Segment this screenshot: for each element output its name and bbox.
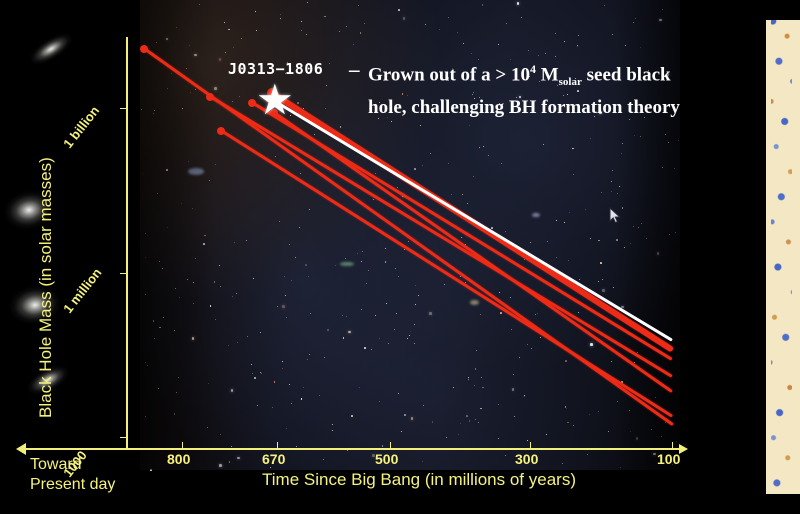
annotation-text: Grown out of a > 104 Msolar seed black h… bbox=[368, 56, 680, 121]
x-tick-label: 300 bbox=[515, 451, 538, 467]
growth-track-start-dot bbox=[206, 93, 214, 101]
annotation-line-1-post: seed black bbox=[582, 64, 671, 85]
x-axis-left-arrow bbox=[16, 443, 26, 455]
y-tick-mark bbox=[120, 437, 127, 438]
x-tick-mark bbox=[277, 442, 278, 448]
cmb-map-strip bbox=[766, 6, 800, 508]
y-tick-label: 1 million bbox=[60, 265, 104, 316]
growth-track-start-dot bbox=[140, 45, 148, 53]
x-axis-title: Time Since Big Bang (in millions of year… bbox=[262, 470, 576, 490]
y-tick-mark bbox=[120, 273, 127, 274]
annotation-line-2: hole, challenging BH formation theory bbox=[368, 95, 680, 121]
x-tick-label: 670 bbox=[262, 451, 285, 467]
annotation-line-1: Grown out of a > 104 Msolar seed black bbox=[368, 56, 680, 95]
cmb-top-cap bbox=[766, 6, 800, 20]
annotation-line-1-m: M bbox=[536, 64, 559, 85]
x-tick-label: 800 bbox=[167, 451, 190, 467]
toward-present-day-label: Toward Present day bbox=[30, 455, 115, 495]
toward-line-2: Present day bbox=[30, 475, 115, 495]
galaxy-edge-on-top bbox=[20, 18, 82, 80]
growth-track-start-dot bbox=[248, 99, 256, 107]
mouse-pointer-icon bbox=[609, 207, 621, 224]
annotation-line-1-pre: Grown out of a > 10 bbox=[368, 64, 530, 85]
slide-canvas: 800670500300100 1 billion1 million1000 B… bbox=[0, 0, 800, 514]
x-tick-mark bbox=[672, 442, 673, 448]
cmb-right-edge bbox=[792, 6, 800, 508]
toward-line-1: Toward bbox=[30, 455, 115, 475]
y-tick-label: 1 billion bbox=[60, 103, 102, 151]
growth-track-start-dot bbox=[217, 127, 225, 135]
x-tick-mark bbox=[390, 442, 391, 448]
y-tick-mark bbox=[120, 108, 127, 109]
cmb-bottom-cap bbox=[766, 494, 800, 508]
x-axis-line bbox=[26, 448, 680, 450]
annotation-subscript: solar bbox=[559, 76, 582, 88]
cmb-left-edge bbox=[766, 6, 771, 508]
quasar-name-label: J0313−1806 bbox=[228, 60, 323, 78]
y-axis-title: Black Hole Mass (in solar masses) bbox=[36, 157, 56, 418]
x-tick-mark bbox=[530, 442, 531, 448]
j0313-star-marker: ★ bbox=[256, 79, 294, 121]
x-tick-mark bbox=[182, 442, 183, 448]
x-tick-label: 500 bbox=[375, 451, 398, 467]
y-axis-line bbox=[126, 37, 128, 449]
x-tick-label: 100 bbox=[657, 451, 680, 467]
annotation-bullet: – bbox=[349, 57, 360, 82]
